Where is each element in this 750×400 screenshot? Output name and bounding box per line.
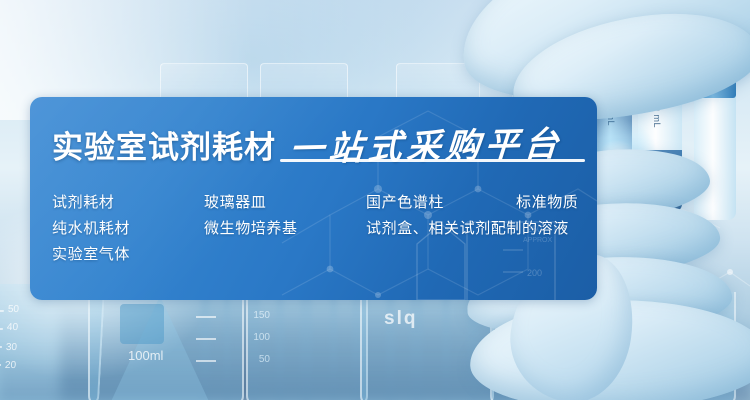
- category-row-1: 试剂耗材 玻璃器皿 国产色谱柱 标准物质: [52, 188, 597, 214]
- svg-text:200: 200: [527, 268, 542, 278]
- category-item-microbial-culture-media[interactable]: 微生物培养基: [204, 217, 366, 238]
- headline-main: 实验室试剂耗材: [52, 122, 276, 167]
- headline-script: 一站式采购平台: [288, 116, 565, 171]
- category-item-water-purifier-consumables[interactable]: 纯水机耗材: [52, 217, 204, 238]
- promo-card: 250 APPROX 200 实验室试剂耗材 一站式采购平台 试剂耗材 玻璃器皿…: [30, 97, 597, 300]
- category-item-laboratory-gases[interactable]: 实验室气体: [52, 243, 204, 264]
- title-underline: [280, 159, 585, 162]
- category-row-2: 纯水机耗材 微生物培养基 试剂盒、相关试剂配制的溶液: [52, 214, 597, 240]
- category-item-reagent-consumables[interactable]: 试剂耗材: [52, 191, 204, 212]
- category-item-domestic-chromatography-column[interactable]: 国产色谱柱: [366, 191, 516, 212]
- category-item-glassware[interactable]: 玻璃器皿: [204, 191, 366, 212]
- promo-banner: 50 40 30 20 GG-17 GG-17 100ml 250 APPROX…: [0, 0, 750, 400]
- category-item-reagent-kits-solutions[interactable]: 试剂盒、相关试剂配制的溶液: [366, 217, 569, 238]
- category-row-3: 实验室气体: [52, 240, 597, 266]
- category-item-reference-material[interactable]: 标准物质: [516, 191, 578, 212]
- category-list: 试剂耗材 玻璃器皿 国产色谱柱 标准物质 纯水机耗材 微生物培养基 试剂盒、相关…: [52, 188, 597, 266]
